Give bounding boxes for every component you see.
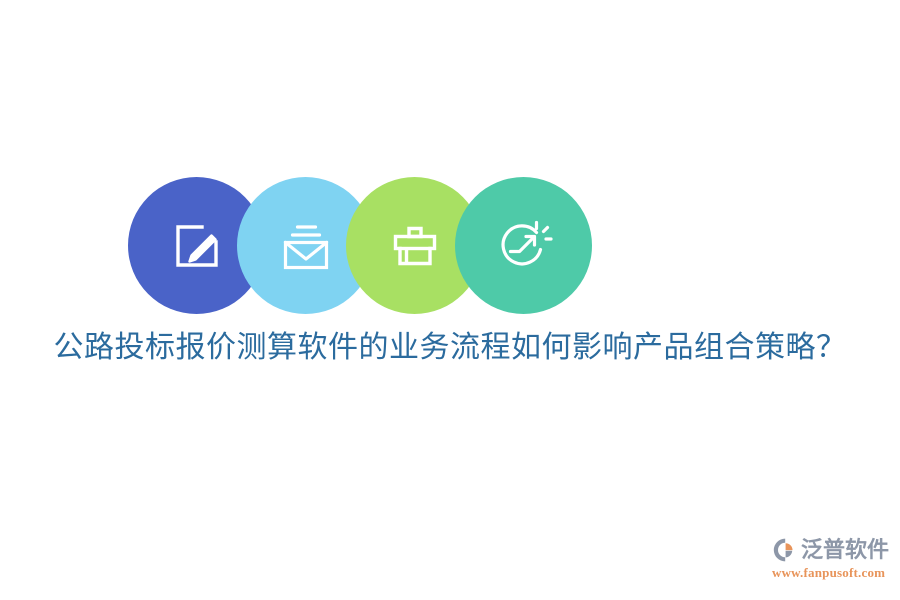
envelope-icon <box>277 218 335 274</box>
icon-circle-performance <box>455 177 592 314</box>
page-canvas: 公路投标报价测算软件的业务流程如何影响产品组合策略？ 泛普软件 www.fanp… <box>0 0 900 600</box>
logo-wordmark: 泛普软件 <box>801 537 889 563</box>
page-title: 公路投标报价测算软件的业务流程如何影响产品组合策略？ <box>0 326 900 370</box>
brand-logo[interactable]: 泛普软件 www.fanpusoft.com <box>772 536 892 582</box>
logo-url: www.fanpusoft.com <box>772 565 892 581</box>
store-icon <box>387 218 443 274</box>
edit-square-icon <box>169 218 225 274</box>
fanpu-swoosh-logo-icon <box>772 537 798 563</box>
logo-row: 泛普软件 <box>772 536 892 564</box>
icon-circle-cluster <box>128 177 592 314</box>
speedometer-icon <box>496 218 552 274</box>
